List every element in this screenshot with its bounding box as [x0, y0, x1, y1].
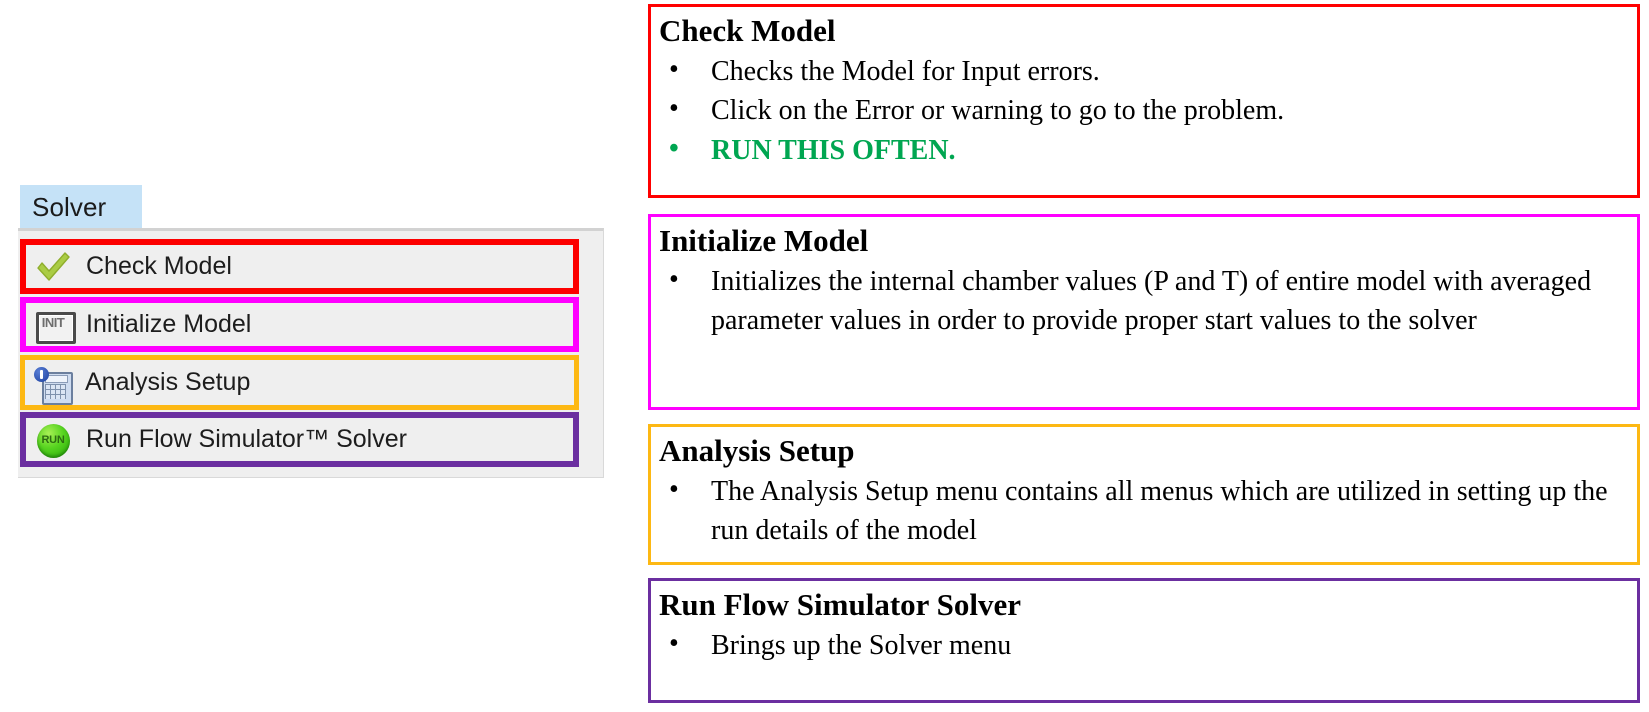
list-item: • Click on the Error or warning to go to…: [651, 91, 1637, 131]
callout-check-model: Check Model • Checks the Model for Input…: [648, 4, 1640, 198]
menu-item-analysis-setup-label: Analysis Setup: [85, 368, 250, 397]
bullet-glyph: •: [669, 89, 679, 129]
callout-title: Check Model: [659, 13, 1637, 50]
callout-run-flow-simulator-solver: Run Flow Simulator Solver • Brings up th…: [648, 578, 1640, 703]
bullet-glyph: •: [669, 470, 679, 510]
green-run-ball-icon: RUN: [33, 421, 73, 459]
list-item: • Checks the Model for Input errors.: [651, 52, 1637, 92]
callout-title: Run Flow Simulator Solver: [659, 587, 1637, 624]
list-item-text: Initializes the internal chamber values …: [711, 266, 1591, 337]
callout-title: Analysis Setup: [659, 433, 1637, 470]
callout-bullet-list: • Initializes the internal chamber value…: [651, 262, 1637, 342]
callout-bullet-list: • Brings up the Solver menu: [651, 626, 1637, 666]
green-checkmark-icon: [33, 248, 73, 286]
list-item-text: RUN THIS OFTEN.: [711, 135, 956, 166]
callout-bullet-list: • Checks the Model for Input errors. • C…: [651, 52, 1637, 171]
solver-menu-region: Solver Check Model INIT Initialize Model: [0, 0, 640, 712]
callout-title: Initialize Model: [659, 223, 1637, 260]
bullet-glyph: •: [669, 260, 679, 300]
list-item: • Brings up the Solver menu: [651, 626, 1637, 666]
menu-item-run-flow-simulator-solver-label: Run Flow Simulator™ Solver: [86, 425, 407, 454]
list-item-text: Brings up the Solver menu: [711, 630, 1011, 661]
bullet-glyph: •: [669, 129, 679, 169]
menu-item-initialize-model-label: Initialize Model: [86, 310, 251, 339]
list-item-emphasized: • RUN THIS OFTEN.: [651, 131, 1637, 171]
menu-item-initialize-model[interactable]: INIT Initialize Model: [20, 297, 579, 352]
init-box-icon: INIT: [33, 306, 73, 344]
calculator-icon: [32, 364, 72, 402]
menu-item-run-flow-simulator-solver[interactable]: RUN Run Flow Simulator™ Solver: [20, 412, 579, 467]
green-run-ball-icon-text: RUN: [33, 434, 73, 446]
menu-item-analysis-setup[interactable]: Analysis Setup: [20, 355, 579, 410]
list-item-text: Click on the Error or warning to go to t…: [711, 95, 1284, 126]
callout-initialize-model: Initialize Model • Initializes the inter…: [648, 214, 1640, 410]
menu-item-check-model[interactable]: Check Model: [20, 239, 579, 294]
init-box-icon-text: INIT: [33, 315, 73, 330]
solver-dropdown-panel: Check Model INIT Initialize Model Analys…: [18, 228, 604, 478]
tab-solver-label: Solver: [32, 192, 106, 223]
list-item-text: Checks the Model for Input errors.: [711, 56, 1100, 87]
menu-item-check-model-label: Check Model: [86, 252, 232, 281]
tab-solver[interactable]: Solver: [20, 185, 142, 229]
callout-bullet-list: • The Analysis Setup menu contains all m…: [651, 472, 1637, 552]
bullet-glyph: •: [669, 50, 679, 90]
callout-panel: Check Model • Checks the Model for Input…: [648, 0, 1644, 712]
list-item: • The Analysis Setup menu contains all m…: [651, 472, 1637, 552]
callout-analysis-setup: Analysis Setup • The Analysis Setup menu…: [648, 424, 1640, 565]
list-item: • Initializes the internal chamber value…: [651, 262, 1637, 342]
bullet-glyph: •: [669, 624, 679, 664]
list-item-text: The Analysis Setup menu contains all men…: [711, 476, 1608, 547]
